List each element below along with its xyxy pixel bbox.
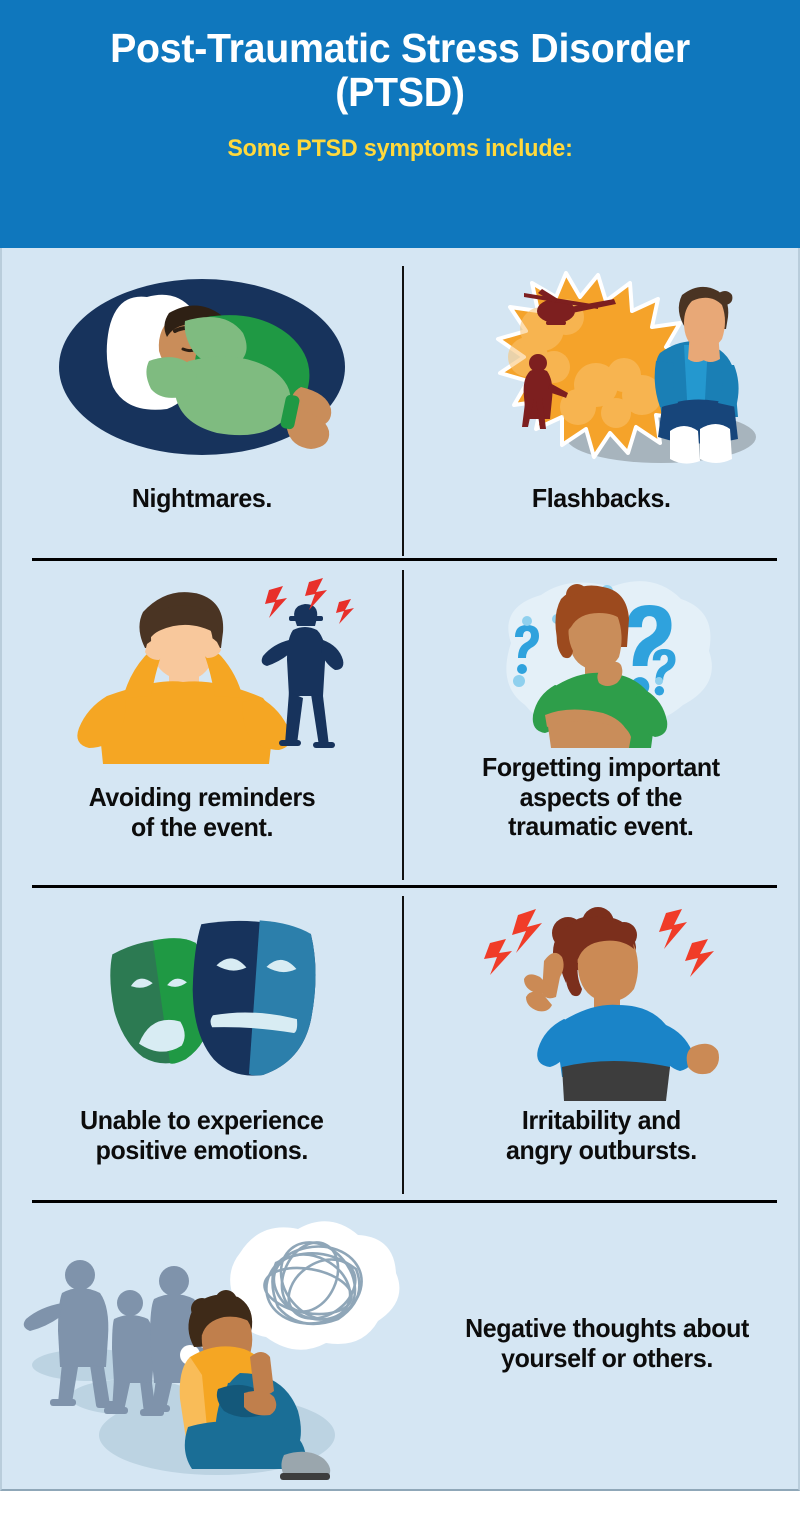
symptom-cell-nightmares: Nightmares. (2, 254, 402, 554)
symptom-cell-avoiding-reminders: Avoiding reminders of the event. (2, 568, 402, 880)
avoiding-reminders-illustration (2, 568, 402, 783)
page-subtitle: Some PTSD symptoms include: (227, 135, 572, 163)
symptom-cell-unable-positive-emotions: Unable to experience positive emotions. (2, 896, 402, 1194)
symptoms-panel: Nightmares. (0, 248, 800, 1491)
masks-illustration (2, 896, 402, 1106)
symptom-cell-flashbacks: Flashbacks. (404, 254, 798, 554)
negative-thoughts-caption-wrap: Negative thoughts about yourself or othe… (422, 1314, 792, 1373)
symptom-label-nightmares: Nightmares. (132, 484, 272, 514)
ptsd-infographic: Post-Traumatic Stress Disorder (PTSD) So… (0, 0, 800, 1521)
symptom-label-flashbacks: Flashbacks. (532, 484, 671, 514)
sleeping-person-nightmare-icon (57, 269, 347, 469)
person-hands-on-face (655, 286, 739, 463)
person-covering-ears (77, 592, 290, 764)
forgetting-illustration (404, 568, 798, 753)
flashbacks-illustration (404, 254, 798, 484)
irritability-illustration (404, 896, 798, 1106)
symptom-label-irritability: Irritability and angry outbursts. (506, 1106, 697, 1165)
nightmares-illustration (2, 254, 402, 484)
happy-mask (187, 916, 320, 1080)
infographic-header: Post-Traumatic Stress Disorder (PTSD) So… (0, 0, 800, 248)
symptom-cell-irritability: Irritability and angry outbursts. (404, 896, 798, 1194)
explosion-flashback-icon (446, 267, 756, 472)
symptom-label-unable-positive-emotions: Unable to experience positive emotions. (80, 1106, 323, 1165)
angry-person-icon (466, 901, 736, 1101)
theater-masks-icon (62, 906, 342, 1096)
page-title: Post-Traumatic Stress Disorder (PTSD) (110, 26, 690, 115)
symptom-label-forgetting-aspects: Forgetting important aspects of the trau… (482, 753, 720, 842)
covering-ears-icon (57, 578, 347, 773)
page-title-line2: (PTSD) (110, 70, 690, 114)
symptom-label-negative-thoughts: Negative thoughts about yourself or othe… (429, 1314, 784, 1373)
row-divider-2 (32, 885, 777, 888)
page-title-line1: Post-Traumatic Stress Disorder (110, 26, 690, 70)
negative-thoughts-illustration (2, 1207, 422, 1482)
angry-woman (524, 907, 719, 1101)
symptom-cell-negative-thoughts: Negative thoughts about yourself or othe… (2, 1200, 798, 1488)
negative-thoughts-icon (12, 1207, 412, 1482)
symptom-cell-forgetting-aspects: Forgetting important aspects of the trau… (404, 568, 798, 880)
thinking-question-marks-icon (451, 573, 751, 748)
row-divider-1 (32, 558, 777, 561)
symptom-label-avoiding-reminders: Avoiding reminders of the event. (89, 783, 316, 842)
